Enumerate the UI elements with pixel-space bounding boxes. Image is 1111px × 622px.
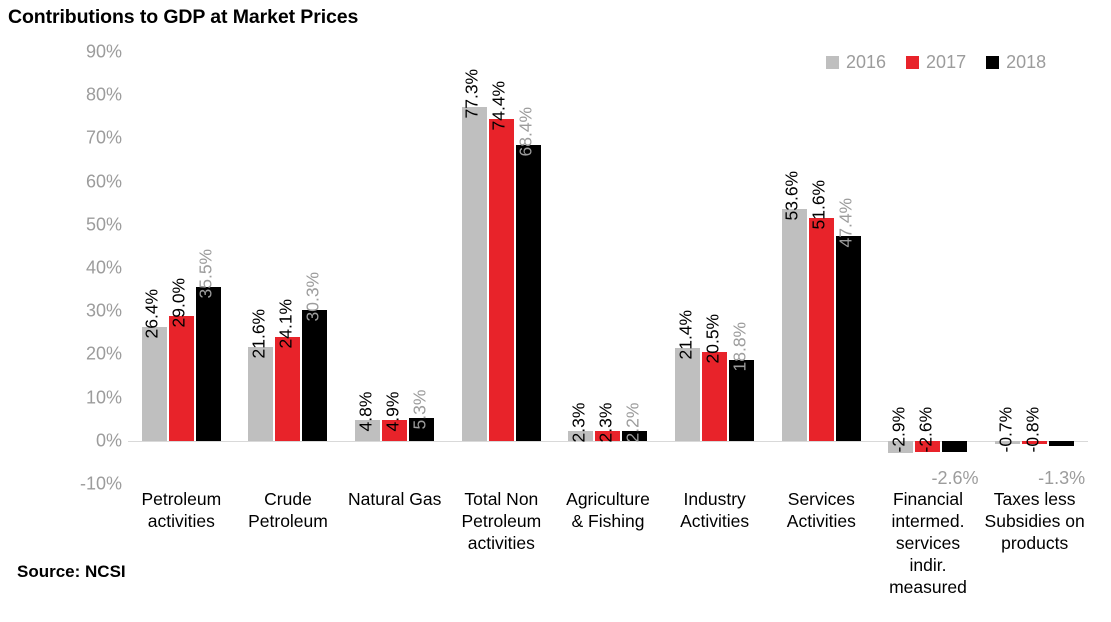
bar-data-label: 2.2% bbox=[624, 403, 642, 443]
bar-2016[interactable] bbox=[462, 107, 487, 441]
bar-group: 26.4%29.0%35.5% bbox=[128, 52, 235, 484]
x-axis-category-line: Subsidies on bbox=[973, 510, 1096, 532]
bar-data-label: 24.1% bbox=[277, 299, 295, 349]
x-axis-category-line: Financial bbox=[867, 488, 990, 510]
bar-2016[interactable] bbox=[782, 209, 807, 441]
bar-group: -0.7%-0.8%-1.3% bbox=[981, 52, 1088, 484]
y-axis-tick-label: 0% bbox=[52, 430, 122, 451]
y-axis-tick-label: 50% bbox=[52, 214, 122, 235]
x-axis-category-line: Total Non bbox=[440, 488, 563, 510]
y-axis-tick-label: 40% bbox=[52, 258, 122, 279]
x-axis-category-line: Petroleum bbox=[120, 488, 243, 510]
bar-data-label: 2.3% bbox=[597, 402, 615, 442]
bar-2017[interactable] bbox=[275, 337, 300, 441]
bar-2018[interactable] bbox=[1049, 441, 1074, 447]
bar-data-label: 74.4% bbox=[491, 81, 509, 131]
bar-2018[interactable] bbox=[942, 441, 967, 452]
x-axis-labels: PetroleumactivitiesCrudePetroleumNatural… bbox=[128, 488, 1088, 618]
bar-data-label: 5.3% bbox=[411, 390, 429, 430]
y-axis-tick-label: 10% bbox=[52, 387, 122, 408]
bar-data-label: 51.6% bbox=[811, 180, 829, 230]
x-axis-category-line: Petroleum bbox=[227, 510, 350, 532]
x-axis-category-label: ServicesActivities bbox=[760, 488, 883, 532]
bar-data-label: 77.3% bbox=[464, 69, 482, 119]
bar-group: 53.6%51.6%47.4% bbox=[768, 52, 875, 484]
bar-data-label: -1.3% bbox=[1022, 469, 1102, 487]
bar-group: 2.3%2.3%2.2% bbox=[555, 52, 662, 484]
plot-area: 26.4%29.0%35.5%21.6%24.1%30.3%4.8%4.9%5.… bbox=[128, 52, 1088, 484]
bar-2017[interactable] bbox=[169, 316, 194, 441]
x-axis-category-label: Natural Gas bbox=[333, 488, 456, 510]
bar-data-label: 20.5% bbox=[704, 314, 722, 364]
x-axis-category-label: Petroleumactivities bbox=[120, 488, 243, 532]
x-axis-category-line: Activities bbox=[653, 510, 776, 532]
bar-data-label: 2.3% bbox=[570, 402, 588, 442]
y-axis-tick-label: 90% bbox=[52, 42, 122, 63]
bar-2018[interactable] bbox=[196, 287, 221, 440]
bar-data-label: 26.4% bbox=[144, 289, 162, 339]
x-axis-category-line: intermed. bbox=[867, 510, 990, 532]
bar-group: 4.8%4.9%5.3% bbox=[341, 52, 448, 484]
x-axis-category-line: indir. bbox=[867, 554, 990, 576]
bar-data-label: -0.8% bbox=[1024, 407, 1042, 453]
bar-2016[interactable] bbox=[142, 327, 167, 441]
x-axis-category-label: Agriculture& Fishing bbox=[547, 488, 670, 532]
bar-data-label: 29.0% bbox=[171, 277, 189, 327]
y-axis-tick-label: 80% bbox=[52, 85, 122, 106]
bar-2018[interactable] bbox=[836, 236, 861, 441]
bar-data-label: 18.8% bbox=[731, 321, 749, 371]
bar-data-label: 4.9% bbox=[384, 391, 402, 431]
x-axis-category-label: IndustryActivities bbox=[653, 488, 776, 532]
bar-data-label: -2.6% bbox=[917, 407, 935, 453]
x-axis-category-line: Activities bbox=[760, 510, 883, 532]
bar-2016[interactable] bbox=[675, 348, 700, 440]
y-axis-tick-label: -10% bbox=[52, 474, 122, 495]
bar-group: 21.6%24.1%30.3% bbox=[235, 52, 342, 484]
bar-group: -2.9%-2.6%-2.6% bbox=[875, 52, 982, 484]
x-axis-category-line: Taxes less bbox=[973, 488, 1096, 510]
bar-2017[interactable] bbox=[702, 352, 727, 441]
bar-2017[interactable] bbox=[489, 119, 514, 440]
bar-2016[interactable] bbox=[248, 347, 273, 440]
x-axis-category-line: measured bbox=[867, 576, 990, 598]
x-axis-category-line: Agriculture bbox=[547, 488, 670, 510]
x-axis-category-label: Financialintermed.servicesindir.measured bbox=[867, 488, 990, 598]
x-axis-category-label: Taxes lessSubsidies onproducts bbox=[973, 488, 1096, 554]
bar-data-label: 35.5% bbox=[198, 249, 216, 299]
bar-data-label: 53.6% bbox=[784, 171, 802, 221]
source-note: Source: NCSI bbox=[17, 562, 126, 582]
bar-data-label: 47.4% bbox=[838, 198, 856, 248]
y-axis-tick-label: 20% bbox=[52, 344, 122, 365]
x-axis-category-line: Services bbox=[760, 488, 883, 510]
x-axis-category-line: activities bbox=[120, 510, 243, 532]
y-axis-tick-label: 30% bbox=[52, 301, 122, 322]
bar-2017[interactable] bbox=[809, 218, 834, 441]
bar-data-label: 21.4% bbox=[677, 310, 695, 360]
page-title: Contributions to GDP at Market Prices bbox=[8, 6, 358, 29]
y-axis-tick-label: 70% bbox=[52, 128, 122, 149]
bar-data-label: 4.8% bbox=[357, 392, 375, 432]
x-axis-category-line: Petroleum bbox=[440, 510, 563, 532]
x-axis-category-line: services bbox=[867, 532, 990, 554]
x-axis-category-label: CrudePetroleum bbox=[227, 488, 350, 532]
bar-2018[interactable] bbox=[302, 310, 327, 441]
bar-data-label: -0.7% bbox=[997, 407, 1015, 453]
x-axis-category-line: Crude bbox=[227, 488, 350, 510]
x-axis-category-line: products bbox=[973, 532, 1096, 554]
y-axis: 90%80%70%60%50%40%30%20%10%0%-10% bbox=[50, 52, 122, 484]
x-axis-category-line: & Fishing bbox=[547, 510, 670, 532]
bar-data-label: 21.6% bbox=[250, 309, 268, 359]
bar-data-label: 30.3% bbox=[304, 272, 322, 322]
bar-group: 77.3%74.4%68.4% bbox=[448, 52, 555, 484]
x-axis-category-label: Total NonPetroleumactivities bbox=[440, 488, 563, 554]
bar-data-label: 68.4% bbox=[518, 107, 536, 157]
x-axis-category-line: Industry bbox=[653, 488, 776, 510]
bar-2018[interactable] bbox=[729, 360, 754, 441]
x-axis-category-line: activities bbox=[440, 532, 563, 554]
bar-2018[interactable] bbox=[516, 145, 541, 440]
x-axis-category-line: Natural Gas bbox=[333, 488, 456, 510]
y-axis-tick-label: 60% bbox=[52, 171, 122, 192]
bar-data-label: -2.9% bbox=[890, 407, 908, 453]
bar-group: 21.4%20.5%18.8% bbox=[661, 52, 768, 484]
